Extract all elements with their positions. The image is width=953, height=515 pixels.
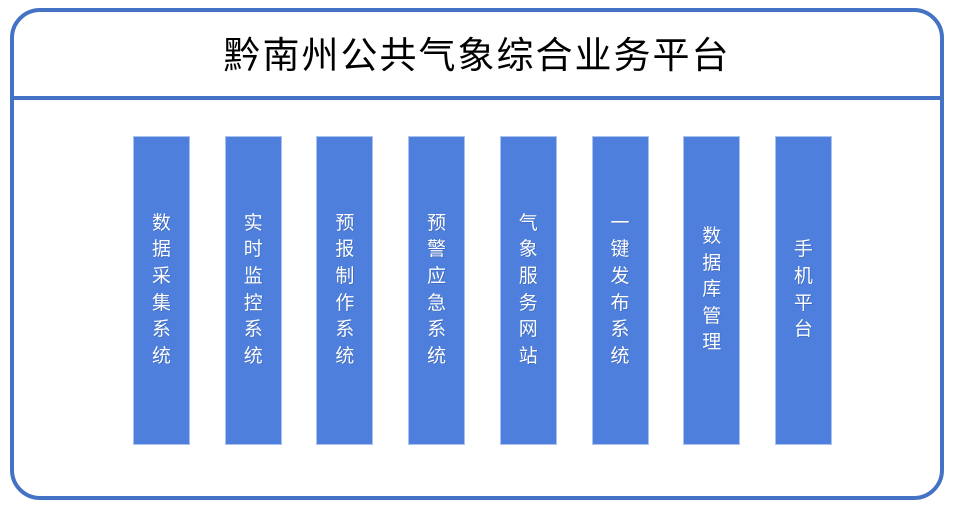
module-bar-label: 预警应急系统 <box>426 211 448 371</box>
module-bar-one-click-publish[interactable]: 一键发布系统 <box>592 136 649 445</box>
module-bar-database-management[interactable]: 数据库管理 <box>683 136 740 445</box>
module-bar-label: 数据库管理 <box>701 224 723 357</box>
module-bar-weather-service-website[interactable]: 气象服务网站 <box>500 136 557 445</box>
module-bar-label: 手机平台 <box>792 237 814 343</box>
header-divider <box>12 96 942 100</box>
module-bars-row: 数据采集系统 实时监控系统 预报制作系统 预警应急系统 气象服务网站 一键发布系… <box>133 136 832 445</box>
module-bar-data-collection[interactable]: 数据采集系统 <box>133 136 190 445</box>
module-bar-label: 实时监控系统 <box>242 211 264 371</box>
diagram-canvas: 黔南州公共气象综合业务平台 数据采集系统 实时监控系统 预报制作系统 预警应急系… <box>0 0 953 515</box>
module-bar-label: 气象服务网站 <box>517 211 539 371</box>
module-bar-forecast-production[interactable]: 预报制作系统 <box>316 136 373 445</box>
module-bar-label: 预报制作系统 <box>334 211 356 371</box>
module-bar-realtime-monitoring[interactable]: 实时监控系统 <box>225 136 282 445</box>
module-bar-label: 一键发布系统 <box>609 211 631 371</box>
module-bar-label: 数据采集系统 <box>151 211 173 371</box>
module-bar-mobile-platform[interactable]: 手机平台 <box>775 136 832 445</box>
module-bar-warning-emergency[interactable]: 预警应急系统 <box>408 136 465 445</box>
